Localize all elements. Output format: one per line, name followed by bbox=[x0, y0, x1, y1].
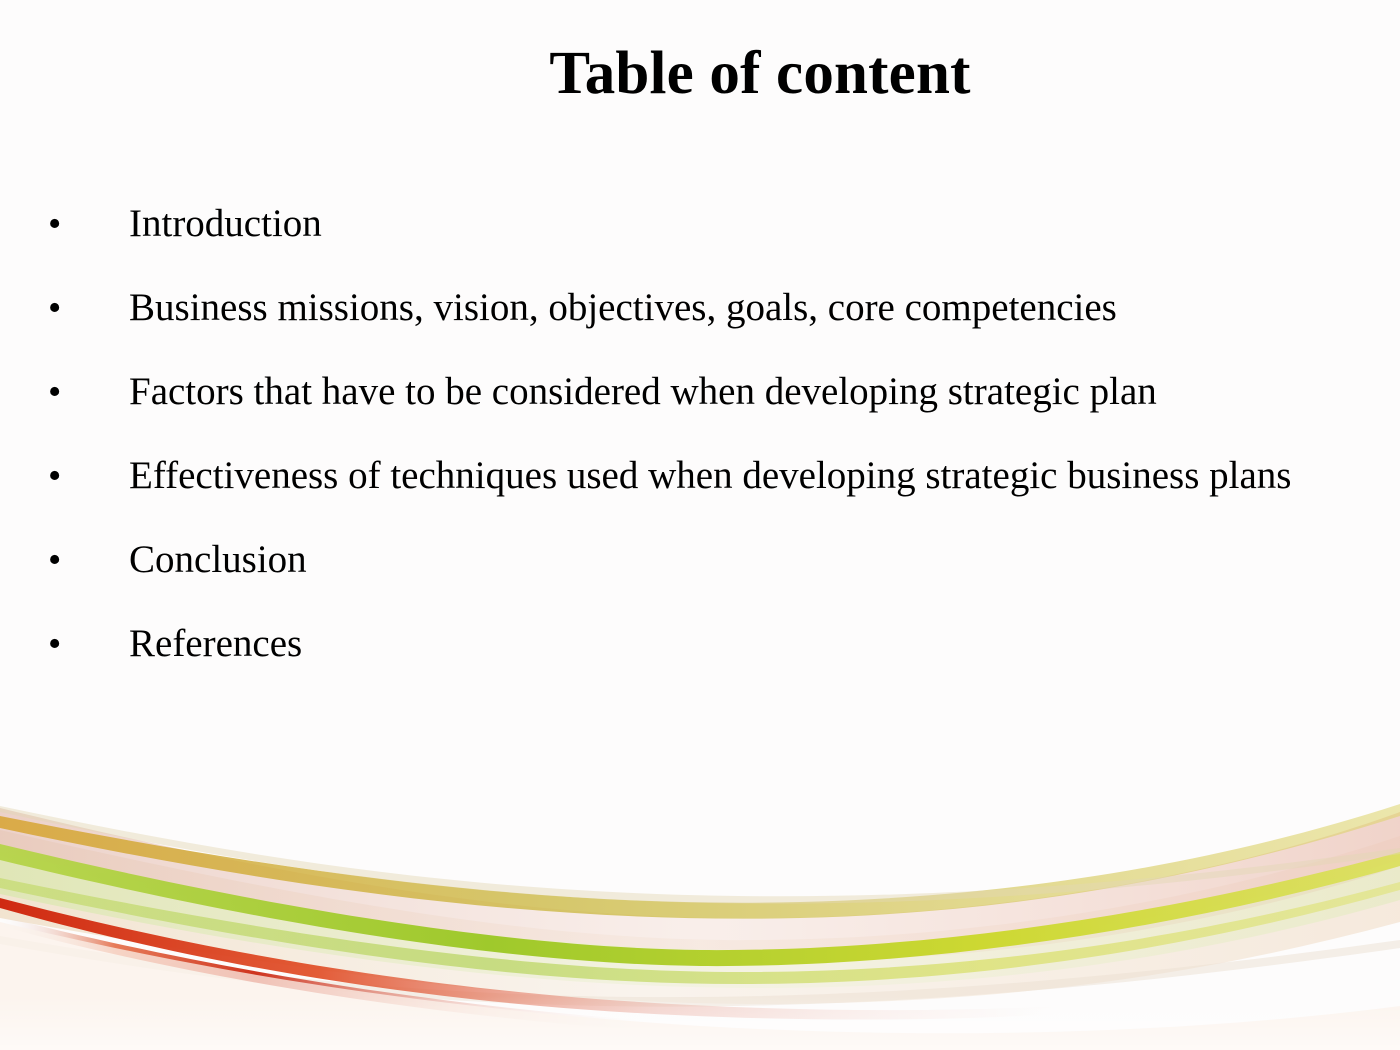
list-item: • Conclusion bbox=[40, 518, 1302, 602]
bullet-point-icon: • bbox=[48, 518, 74, 602]
list-item: • Introduction bbox=[40, 182, 1302, 266]
list-item-label: Conclusion bbox=[129, 518, 1302, 602]
bullet-point-icon: • bbox=[48, 182, 74, 266]
ribbon-swoosh-decoration bbox=[0, 790, 1400, 1050]
bullet-point-icon: • bbox=[48, 434, 74, 518]
list-item: • References bbox=[40, 602, 1302, 686]
list-item: • Business missions, vision, objectives,… bbox=[40, 266, 1302, 350]
list-item-label: References bbox=[129, 602, 1302, 686]
bullet-point-icon: • bbox=[48, 350, 74, 434]
bullet-point-icon: • bbox=[48, 266, 74, 350]
list-item: • Effectiveness of techniques used when … bbox=[40, 434, 1302, 518]
list-item-label: Factors that have to be considered when … bbox=[129, 350, 1302, 434]
title-block: Table of content bbox=[0, 42, 1400, 106]
list-item: • Factors that have to be considered whe… bbox=[40, 350, 1302, 434]
list-item-label: Effectiveness of techniques used when de… bbox=[129, 434, 1302, 518]
bullet-point-icon: • bbox=[48, 602, 74, 686]
list-item-label: Introduction bbox=[129, 182, 1302, 266]
table-of-contents-list: • Introduction • Business missions, visi… bbox=[40, 182, 1302, 686]
slide-canvas: Table of content • Introduction • Busine… bbox=[0, 0, 1400, 1050]
page-title: Table of content bbox=[429, 42, 970, 106]
list-item-label: Business missions, vision, objectives, g… bbox=[129, 266, 1302, 350]
